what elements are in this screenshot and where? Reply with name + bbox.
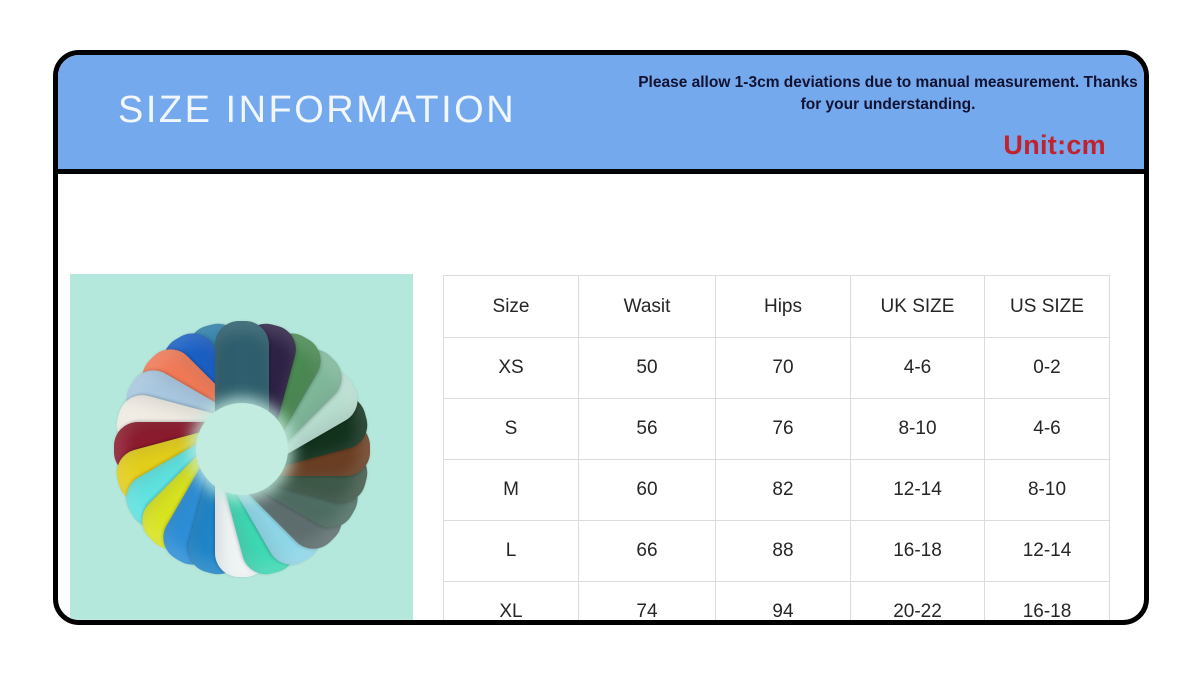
cell-uk: 20-22 — [851, 582, 985, 626]
cell-hips: 76 — [716, 399, 851, 460]
cell-hips: 70 — [716, 338, 851, 399]
cell-size: L — [444, 521, 579, 582]
unit-label: Unit:cm — [1003, 130, 1106, 161]
table-header-row: Size Wasit Hips UK SIZE US SIZE — [444, 276, 1110, 338]
measurement-disclaimer: Please allow 1-3cm deviations due to man… — [628, 72, 1148, 117]
cell-uk: 4-6 — [851, 338, 985, 399]
size-information-page: SIZE INFORMATION Please allow 1-3cm devi… — [0, 0, 1200, 675]
cell-us: 12-14 — [985, 521, 1110, 582]
table-row: S 56 76 8-10 4-6 — [444, 399, 1110, 460]
table-row: M 60 82 12-14 8-10 — [444, 460, 1110, 521]
cell-hips: 82 — [716, 460, 851, 521]
card-header: SIZE INFORMATION Please allow 1-3cm devi… — [58, 55, 1144, 174]
cell-us: 16-18 — [985, 582, 1110, 626]
table-row: XS 50 70 4-6 0-2 — [444, 338, 1110, 399]
cell-uk: 12-14 — [851, 460, 985, 521]
cell-size: XL — [444, 582, 579, 626]
column-header-waist: Wasit — [579, 276, 716, 338]
cell-uk: 8-10 — [851, 399, 985, 460]
cell-waist: 74 — [579, 582, 716, 626]
cell-waist: 50 — [579, 338, 716, 399]
cell-size: S — [444, 399, 579, 460]
column-header-uk: UK SIZE — [851, 276, 985, 338]
cell-size: M — [444, 460, 579, 521]
size-chart-card: SIZE INFORMATION Please allow 1-3cm devi… — [53, 50, 1149, 625]
table-row: XL 74 94 20-22 16-18 — [444, 582, 1110, 626]
table-row: L 66 88 16-18 12-14 — [444, 521, 1110, 582]
cell-hips: 94 — [716, 582, 851, 626]
cell-uk: 16-18 — [851, 521, 985, 582]
cell-waist: 56 — [579, 399, 716, 460]
page-title: SIZE INFORMATION — [118, 89, 516, 132]
column-header-size: Size — [444, 276, 579, 338]
size-table-body: Size Wasit Hips UK SIZE US SIZE XS 50 70… — [444, 276, 1110, 626]
column-header-us: US SIZE — [985, 276, 1110, 338]
cell-us: 4-6 — [985, 399, 1110, 460]
cell-waist: 60 — [579, 460, 716, 521]
cell-hips: 88 — [716, 521, 851, 582]
cell-size: XS — [444, 338, 579, 399]
cell-waist: 66 — [579, 521, 716, 582]
column-header-hips: Hips — [716, 276, 851, 338]
product-photo — [70, 274, 413, 623]
cell-us: 8-10 — [985, 460, 1110, 521]
cell-us: 0-2 — [985, 338, 1110, 399]
size-table: Size Wasit Hips UK SIZE US SIZE XS 50 70… — [443, 275, 1110, 625]
garment-circle-center — [196, 403, 288, 495]
card-body: Size Wasit Hips UK SIZE US SIZE XS 50 70… — [58, 174, 1144, 625]
size-table-wrapper: Size Wasit Hips UK SIZE US SIZE XS 50 70… — [443, 275, 1110, 625]
